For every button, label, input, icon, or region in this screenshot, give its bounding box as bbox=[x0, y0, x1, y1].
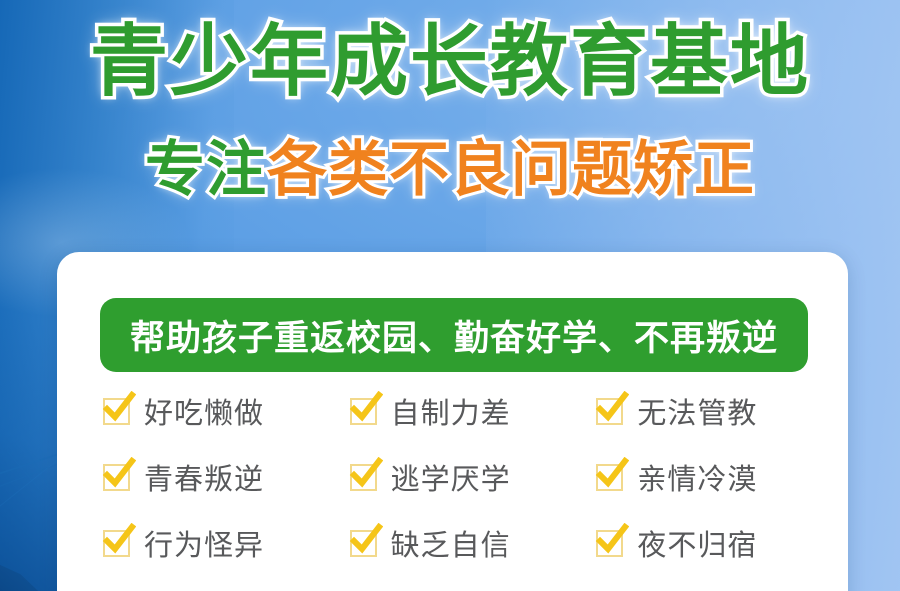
check-icon[interactable] bbox=[596, 398, 623, 425]
page-title: 青少年成长教育基地 bbox=[0, 22, 900, 102]
subheadline-block: 专注各类不良问题矫正 bbox=[0, 138, 900, 201]
checklist-item-label: 好吃懒做 bbox=[144, 390, 264, 432]
checklist-item-label: 夜不归宿 bbox=[637, 522, 757, 564]
banner-text: 帮助孩子重返校园、勤奋好学、不再叛逆 bbox=[130, 310, 778, 361]
checklist-item-label: 自制力差 bbox=[391, 390, 511, 432]
check-icon[interactable] bbox=[350, 464, 377, 491]
checklist-item[interactable]: 无法管教 bbox=[596, 390, 843, 432]
check-icon[interactable] bbox=[103, 398, 130, 425]
check-icon[interactable] bbox=[103, 464, 130, 491]
checklist-item-label: 无法管教 bbox=[637, 390, 757, 432]
checklist-item-label: 逃学厌学 bbox=[391, 456, 511, 498]
checklist-item[interactable]: 自制力差 bbox=[350, 390, 597, 432]
content-card: 帮助孩子重返校园、勤奋好学、不再叛逆 好吃懒做自制力差无法管教青春叛逆逃学厌学亲… bbox=[57, 252, 848, 591]
checklist-item-label: 缺乏自信 bbox=[391, 522, 511, 564]
checklist-item[interactable]: 夜不归宿 bbox=[596, 522, 843, 564]
checklist-item[interactable]: 逃学厌学 bbox=[350, 456, 597, 498]
checklist-item-label: 行为怪异 bbox=[144, 522, 264, 564]
subtitle-orange-part: 各类不良问题矫正 bbox=[267, 136, 755, 203]
problem-checklist: 好吃懒做自制力差无法管教青春叛逆逃学厌学亲情冷漠行为怪异缺乏自信夜不归宿 bbox=[103, 390, 843, 564]
page-subtitle: 专注各类不良问题矫正 bbox=[0, 138, 900, 201]
checklist-item-label: 亲情冷漠 bbox=[637, 456, 757, 498]
green-banner: 帮助孩子重返校园、勤奋好学、不再叛逆 bbox=[100, 298, 808, 372]
check-icon[interactable] bbox=[103, 530, 130, 557]
checklist-item[interactable]: 好吃懒做 bbox=[103, 390, 350, 432]
check-icon[interactable] bbox=[596, 530, 623, 557]
checklist-item[interactable]: 青春叛逆 bbox=[103, 456, 350, 498]
checklist-item-label: 青春叛逆 bbox=[144, 456, 264, 498]
checklist-item[interactable]: 亲情冷漠 bbox=[596, 456, 843, 498]
check-icon[interactable] bbox=[350, 530, 377, 557]
promo-poster: 青少年成长教育基地 专注各类不良问题矫正 帮助孩子重返校园、勤奋好学、不再叛逆 … bbox=[0, 0, 900, 591]
check-icon[interactable] bbox=[350, 398, 377, 425]
checklist-item[interactable]: 行为怪异 bbox=[103, 522, 350, 564]
headline-block: 青少年成长教育基地 bbox=[0, 22, 900, 102]
check-icon[interactable] bbox=[596, 464, 623, 491]
checklist-item[interactable]: 缺乏自信 bbox=[350, 522, 597, 564]
subtitle-green-part: 专注 bbox=[145, 136, 267, 203]
